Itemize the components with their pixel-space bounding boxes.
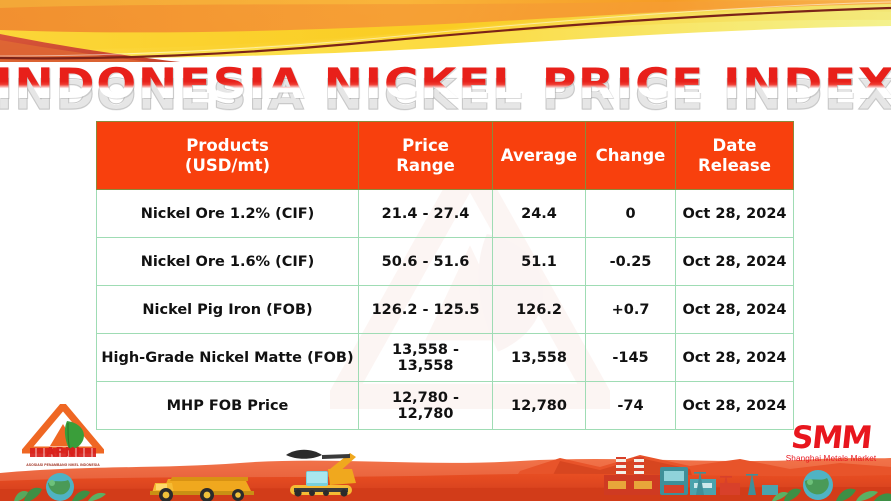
price-table: Products (USD/mt) Price Range Average Ch… — [96, 121, 794, 430]
cell-average: 126.2 — [493, 286, 586, 334]
apni-logo-subtitle: ASOSIASI PENAMBANG NIKEL INDONESIA — [22, 463, 104, 467]
table-header-row: Products (USD/mt) Price Range Average Ch… — [97, 122, 794, 190]
cell-product: Nickel Pig Iron (FOB) — [97, 286, 359, 334]
apni-logo: APNI ASOSIASI PENAMBANG NIKEL INDONESIA — [22, 404, 104, 468]
price-table-container: Products (USD/mt) Price Range Average Ch… — [96, 121, 793, 430]
page-title-block: INDONESIA NICKEL PRICE INDEX INDONESIA N… — [0, 56, 891, 114]
cell-change: -0.25 — [586, 238, 676, 286]
apni-logo-name: APNI — [22, 445, 104, 459]
col-header-change: Change — [586, 122, 676, 190]
cell-change: -145 — [586, 334, 676, 382]
col-header-products-line2: (USD/mt) — [185, 156, 270, 175]
dump-truck — [150, 477, 254, 501]
page-title: INDONESIA NICKEL PRICE INDEX — [0, 59, 891, 108]
cell-average: 51.1 — [493, 238, 586, 286]
globe-right — [772, 470, 891, 501]
col-header-price-line2: Range — [396, 156, 455, 175]
cell-date-release: Oct 28, 2024 — [676, 382, 794, 430]
cell-price-range: 50.6 - 51.6 — [359, 238, 493, 286]
col-header-price-range: Price Range — [359, 122, 493, 190]
cell-date-release: Oct 28, 2024 — [676, 238, 794, 286]
table-row: MHP FOB Price 12,780 - 12,780 12,780 -74… — [97, 382, 794, 430]
smm-logo: SMM Shanghai Metals Market — [781, 424, 881, 466]
table-row: Nickel Pig Iron (FOB) 126.2 - 125.5 126.… — [97, 286, 794, 334]
cell-date-release: Oct 28, 2024 — [676, 286, 794, 334]
cell-average: 12,780 — [493, 382, 586, 430]
smm-logo-name: SMM — [779, 424, 882, 453]
cell-average: 13,558 — [493, 334, 586, 382]
top-banner-decoration — [0, 0, 891, 62]
cell-product: Nickel Ore 1.6% (CIF) — [97, 238, 359, 286]
globe-left — [14, 473, 106, 501]
cell-price-range: 21.4 - 27.4 — [359, 190, 493, 238]
cell-price-range: 12,780 - 12,780 — [359, 382, 493, 430]
cell-product: MHP FOB Price — [97, 382, 359, 430]
cell-product: High-Grade Nickel Matte (FOB) — [97, 334, 359, 382]
cell-price-range: 13,558 - 13,558 — [359, 334, 493, 382]
cell-change: -74 — [586, 382, 676, 430]
table-body: Nickel Ore 1.2% (CIF) 21.4 - 27.4 24.4 0… — [97, 190, 794, 430]
col-header-date-line1: Date — [713, 136, 757, 155]
col-header-products: Products (USD/mt) — [97, 122, 359, 190]
table-row: Nickel Ore 1.6% (CIF) 50.6 - 51.6 51.1 -… — [97, 238, 794, 286]
excavator — [286, 450, 356, 497]
cell-average: 24.4 — [493, 190, 586, 238]
cell-date-release: Oct 28, 2024 — [676, 334, 794, 382]
cell-change: +0.7 — [586, 286, 676, 334]
col-header-date-release: Date Release — [676, 122, 794, 190]
cell-date-release: Oct 28, 2024 — [676, 190, 794, 238]
table-row: High-Grade Nickel Matte (FOB) 13,558 - 1… — [97, 334, 794, 382]
col-header-price-line1: Price — [402, 136, 449, 155]
factory-complex — [604, 457, 778, 495]
bottom-mining-illustration — [0, 439, 891, 501]
col-header-products-line1: Products — [186, 136, 269, 155]
cell-price-range: 126.2 - 125.5 — [359, 286, 493, 334]
col-header-date-line2: Release — [698, 156, 771, 175]
col-header-average: Average — [493, 122, 586, 190]
table-header: Products (USD/mt) Price Range Average Ch… — [97, 122, 794, 190]
cell-change: 0 — [586, 190, 676, 238]
cell-product: Nickel Ore 1.2% (CIF) — [97, 190, 359, 238]
price-index-poster: INDONESIA NICKEL PRICE INDEX INDONESIA N… — [0, 0, 891, 501]
table-row: Nickel Ore 1.2% (CIF) 21.4 - 27.4 24.4 0… — [97, 190, 794, 238]
